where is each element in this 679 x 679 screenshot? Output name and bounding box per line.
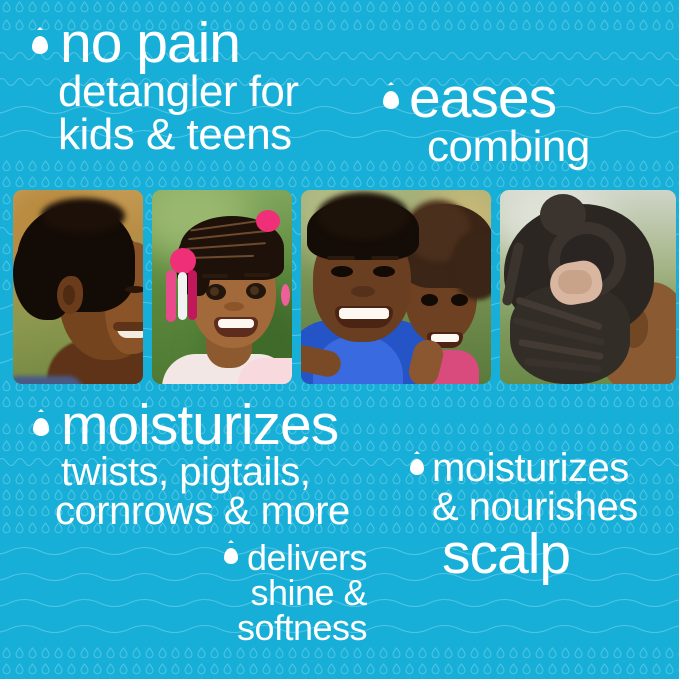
claim-line: combing xyxy=(383,126,590,169)
claim-text: detangler for xyxy=(58,67,299,116)
pattern-band-plain xyxy=(0,675,679,679)
claim-text: twists, pigtails, xyxy=(61,450,310,494)
claim-line: no pain xyxy=(32,16,299,71)
claim-delivers-shine: delivers shine & softness xyxy=(224,541,367,646)
claim-text: cornrows & more xyxy=(55,489,350,533)
claim-text: combing xyxy=(427,122,590,171)
water-drop-icon xyxy=(410,459,424,475)
claim-text: moisturizes xyxy=(432,446,629,490)
claim-text: eases xyxy=(409,66,556,130)
claim-moisturizes-scalp: moisturizes & nourishes scalp xyxy=(410,449,638,582)
claim-line: scalp xyxy=(410,527,638,582)
photo-siblings-hug xyxy=(301,190,491,384)
claim-line: delivers xyxy=(224,541,367,576)
claim-line: shine & xyxy=(224,576,367,611)
claim-text: no pain xyxy=(60,11,240,75)
claim-eases-combing: eases combing xyxy=(383,71,590,169)
photo-teen-boy-profile xyxy=(13,190,143,384)
water-drop-icon xyxy=(33,418,49,436)
claim-text: softness xyxy=(237,607,367,648)
claim-no-pain: no pain detangler for kids & teens xyxy=(32,16,299,157)
water-drop-icon xyxy=(383,91,399,109)
claim-line: twists, pigtails, xyxy=(33,453,350,492)
water-drop-icon xyxy=(224,548,238,564)
claim-line: detangler for xyxy=(32,71,299,114)
claim-text: kids & teens xyxy=(58,110,292,159)
claim-text: scalp xyxy=(442,522,570,586)
claim-line: moisturizes xyxy=(33,398,350,453)
pattern-band-drops xyxy=(0,175,679,188)
claim-text: moisturizes xyxy=(61,393,338,457)
claim-line: moisturizes xyxy=(410,449,638,488)
product-feature-poster: no pain detangler for kids & teens eases… xyxy=(0,0,679,679)
claim-line: softness xyxy=(224,611,367,646)
claim-moisturizes-styles: moisturizes twists, pigtails, cornrows &… xyxy=(33,398,350,531)
claim-line: eases xyxy=(383,71,590,126)
claim-line: cornrows & more xyxy=(33,492,350,531)
photo-girl-twist-updo xyxy=(500,190,676,384)
pattern-band-drops xyxy=(0,662,679,675)
photo-toddler-girl-cornrows xyxy=(152,190,292,384)
claim-line: kids & teens xyxy=(32,114,299,157)
pattern-band-drops xyxy=(0,646,679,659)
water-drop-icon xyxy=(32,36,48,54)
photo-gallery-strip xyxy=(13,190,667,384)
